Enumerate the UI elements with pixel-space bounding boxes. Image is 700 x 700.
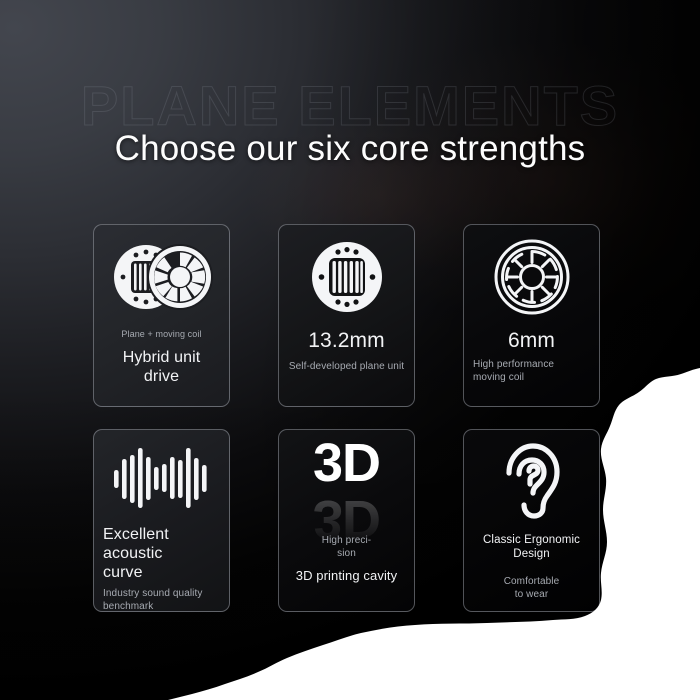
3d-glyph-reflection: 3D (279, 492, 414, 546)
feature-card-text: 13.2mm Self-developed plane unit (279, 329, 414, 406)
card-caption-large: 3D printing cavity (288, 568, 405, 583)
feature-card-hybrid-unit-drive[interactable]: Plane + moving coil Hybrid unit drive (93, 224, 230, 407)
card-caption-small-line2: benchmark (103, 600, 220, 612)
3d-glyph: 3D (279, 436, 414, 490)
card-caption-small-line2: sion (288, 547, 405, 560)
feature-card-text: 6mm High performance moving coil (464, 329, 599, 406)
feature-card-moving-coil-size[interactable]: 6mm High performance moving coil (463, 224, 600, 407)
feature-card-acoustic-curve[interactable]: Excellent acoustic curve Industry sound … (93, 429, 230, 612)
card-caption-small-line2: to wear (473, 588, 590, 601)
feature-card-text: Excellent acoustic curve Industry sound … (94, 526, 229, 612)
planar-driver-disc-icon (279, 225, 414, 329)
card-caption-small-line1: Comfortable (473, 575, 590, 588)
feature-card-ergonomic-design[interactable]: Classic Ergonomic Design Comfortable to … (463, 429, 600, 612)
card-caption-large: Hybrid unit drive (103, 349, 220, 387)
card-caption-large-line2: curve (103, 564, 220, 583)
3d-text-icon: 3D 3D (279, 430, 414, 534)
ear-icon (464, 430, 599, 534)
product-feature-banner: PLANE ELEMENTS Choose our six core stren… (0, 0, 700, 700)
card-caption-small-line2: moving coil (473, 371, 590, 384)
card-caption-small: Self-developed plane unit (288, 360, 405, 373)
feature-card-grid: Plane + moving coil Hybrid unit drive (93, 224, 600, 612)
feature-card-text: Classic Ergonomic Design Comfortable to … (464, 534, 599, 611)
moving-coil-ring-icon (464, 225, 599, 329)
card-caption-small: Plane + moving coil (103, 329, 220, 341)
card-caption-large: Classic Ergonomic Design (473, 534, 590, 561)
planar-plus-coil-driver-icon (94, 225, 229, 329)
card-caption-small-line1: Industry sound quality (103, 587, 220, 600)
card-caption-large: 6mm (473, 329, 590, 354)
feature-card-3d-printing-cavity[interactable]: 3D 3D High preci- sion 3D printing cavit… (278, 429, 415, 612)
card-caption-large: 13.2mm (288, 329, 405, 354)
card-caption-small-line1: High performance (473, 358, 590, 371)
watermark-text: PLANE ELEMENTS (0, 78, 700, 134)
audio-waveform-icon (94, 430, 229, 526)
page-title: Choose our six core strengths (0, 129, 700, 169)
feature-card-plane-unit-size[interactable]: 13.2mm Self-developed plane unit (278, 224, 415, 407)
card-caption-large-line1: Excellent acoustic (103, 526, 220, 564)
feature-card-text: Plane + moving coil Hybrid unit drive (94, 329, 229, 406)
